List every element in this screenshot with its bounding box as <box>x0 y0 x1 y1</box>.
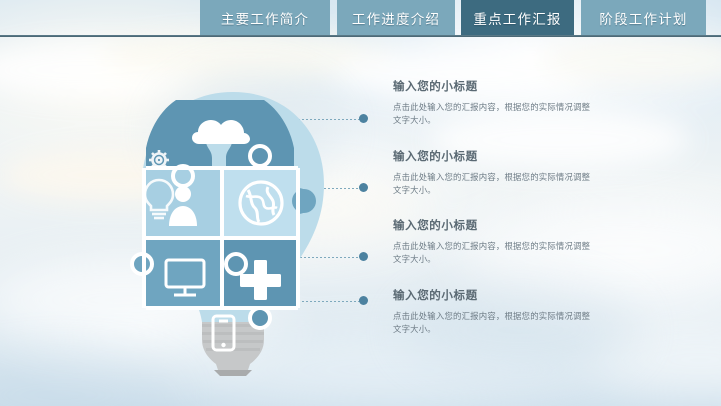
tab-work-progress[interactable]: 工作进度介绍 <box>337 0 455 35</box>
info-body: 点击此处输入您的汇报内容，根据您的实际情况调整文字大小。 <box>393 171 598 197</box>
info-body: 点击此处输入您的汇报内容，根据您的实际情况调整文字大小。 <box>393 240 598 266</box>
info-title: 输入您的小标题 <box>393 289 608 303</box>
info-title: 输入您的小标题 <box>393 150 608 164</box>
tab-phase-work-plan[interactable]: 阶段工作计划 <box>581 0 706 35</box>
tab-key-work-report[interactable]: 重点工作汇报 <box>461 0 574 35</box>
tab-label: 阶段工作计划 <box>599 8 687 28</box>
puzzle-knob-e <box>250 308 270 328</box>
header-divider <box>0 35 721 37</box>
slide-canvas: 主要工作简介 工作进度介绍 重点工作汇报 阶段工作计划 <box>0 0 721 406</box>
puzzle-knob-d <box>226 254 246 274</box>
connector-dot-2 <box>359 183 368 192</box>
info-title: 输入您的小标题 <box>393 219 608 233</box>
connector-dot-1 <box>359 114 368 123</box>
tab-label: 主要工作简介 <box>221 8 309 28</box>
connector-dot-3 <box>359 252 368 261</box>
info-block-3: 输入您的小标题 点击此处输入您的汇报内容，根据您的实际情况调整文字大小。 <box>393 219 608 266</box>
info-body: 点击此处输入您的汇报内容，根据您的实际情况调整文字大小。 <box>393 101 598 127</box>
info-block-2: 输入您的小标题 点击此处输入您的汇报内容，根据您的实际情况调整文字大小。 <box>393 150 608 197</box>
lightbulb-puzzle-diagram <box>128 88 338 378</box>
connector-dot-4 <box>359 296 368 305</box>
info-block-4: 输入您的小标题 点击此处输入您的汇报内容，根据您的实际情况调整文字大小。 <box>393 289 608 336</box>
tab-label: 工作进度介绍 <box>352 8 440 28</box>
info-title: 输入您的小标题 <box>393 80 608 94</box>
info-body: 点击此处输入您的汇报内容，根据您的实际情况调整文字大小。 <box>393 310 598 336</box>
top-navigation-bar: 主要工作简介 工作进度介绍 重点工作汇报 阶段工作计划 <box>0 0 721 37</box>
puzzle-knob-b <box>250 146 270 166</box>
tab-label: 重点工作汇报 <box>473 8 561 28</box>
info-block-1: 输入您的小标题 点击此处输入您的汇报内容，根据您的实际情况调整文字大小。 <box>393 80 608 127</box>
tab-main-work-intro[interactable]: 主要工作简介 <box>200 0 330 35</box>
sky-background <box>0 0 721 406</box>
